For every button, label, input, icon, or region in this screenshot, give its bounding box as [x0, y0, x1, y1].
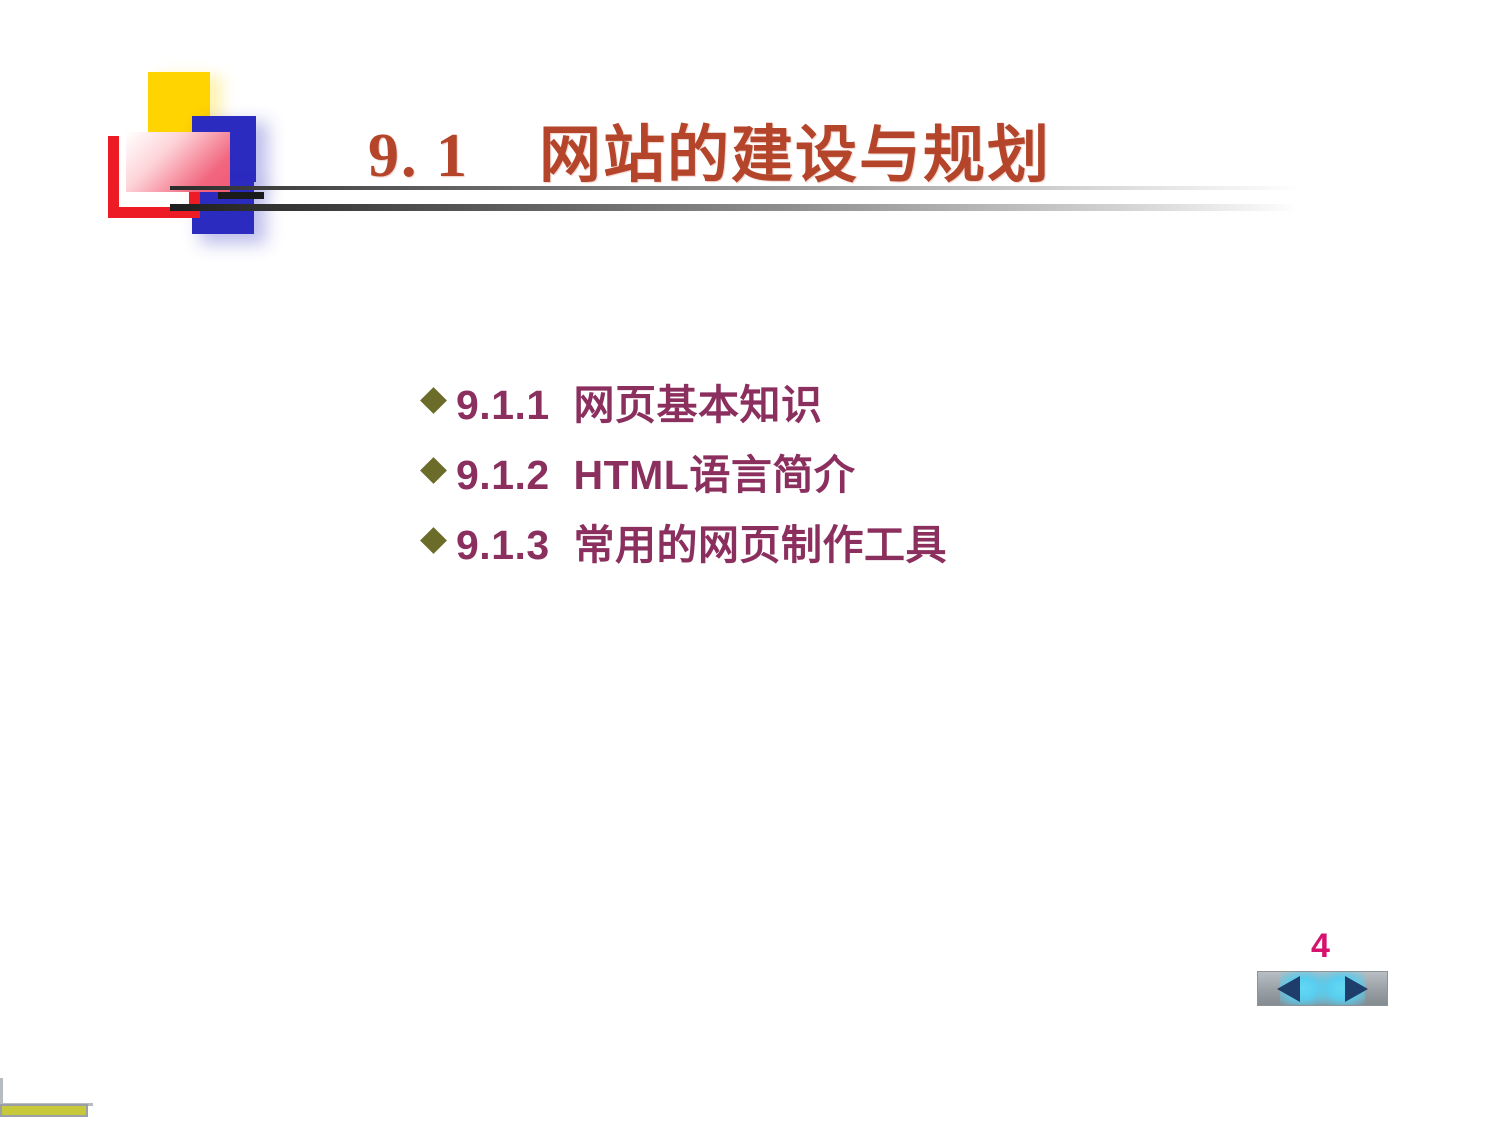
list-item-label: 9.1.2 HTML语言简介	[456, 441, 855, 501]
title-divider-thin	[170, 186, 1300, 190]
diamond-bullet-icon	[420, 527, 447, 554]
black-bar-stub	[218, 192, 264, 199]
slide-title: 9. 1 网站的建设与规划	[368, 104, 1051, 194]
pink-gradient-rectangle-icon	[126, 132, 230, 192]
list-item: 9.1.3 常用的网页制作工具	[424, 506, 1324, 576]
page-number: 4	[1311, 927, 1330, 966]
slide-canvas: 9. 1 网站的建设与规划 9.1.1 网页基本知识 9.1.2 HTML语言简…	[0, 0, 1500, 1125]
slide-navigation-bar[interactable]	[1257, 971, 1388, 1006]
corner-marker-bar	[0, 1104, 88, 1117]
title-divider-thick	[170, 204, 1300, 211]
list-item: 9.1.1 网页基本知识	[424, 366, 1324, 436]
diamond-bullet-icon	[420, 457, 447, 484]
decorative-logo-cluster	[100, 60, 300, 250]
arrow-right-icon	[1345, 976, 1368, 1002]
agenda-list: 9.1.1 网页基本知识 9.1.2 HTML语言简介 9.1.3 常用的网页制…	[424, 366, 1324, 576]
previous-slide-button[interactable]	[1258, 972, 1323, 1005]
list-item-label: 9.1.3 常用的网页制作工具	[456, 511, 947, 571]
list-item: 9.1.2 HTML语言简介	[424, 436, 1324, 506]
arrow-left-icon	[1277, 976, 1300, 1002]
corner-edge-vertical	[0, 1078, 3, 1106]
list-item-label: 9.1.1 网页基本知识	[456, 371, 822, 431]
next-slide-button[interactable]	[1323, 972, 1388, 1005]
diamond-bullet-icon	[420, 387, 447, 414]
